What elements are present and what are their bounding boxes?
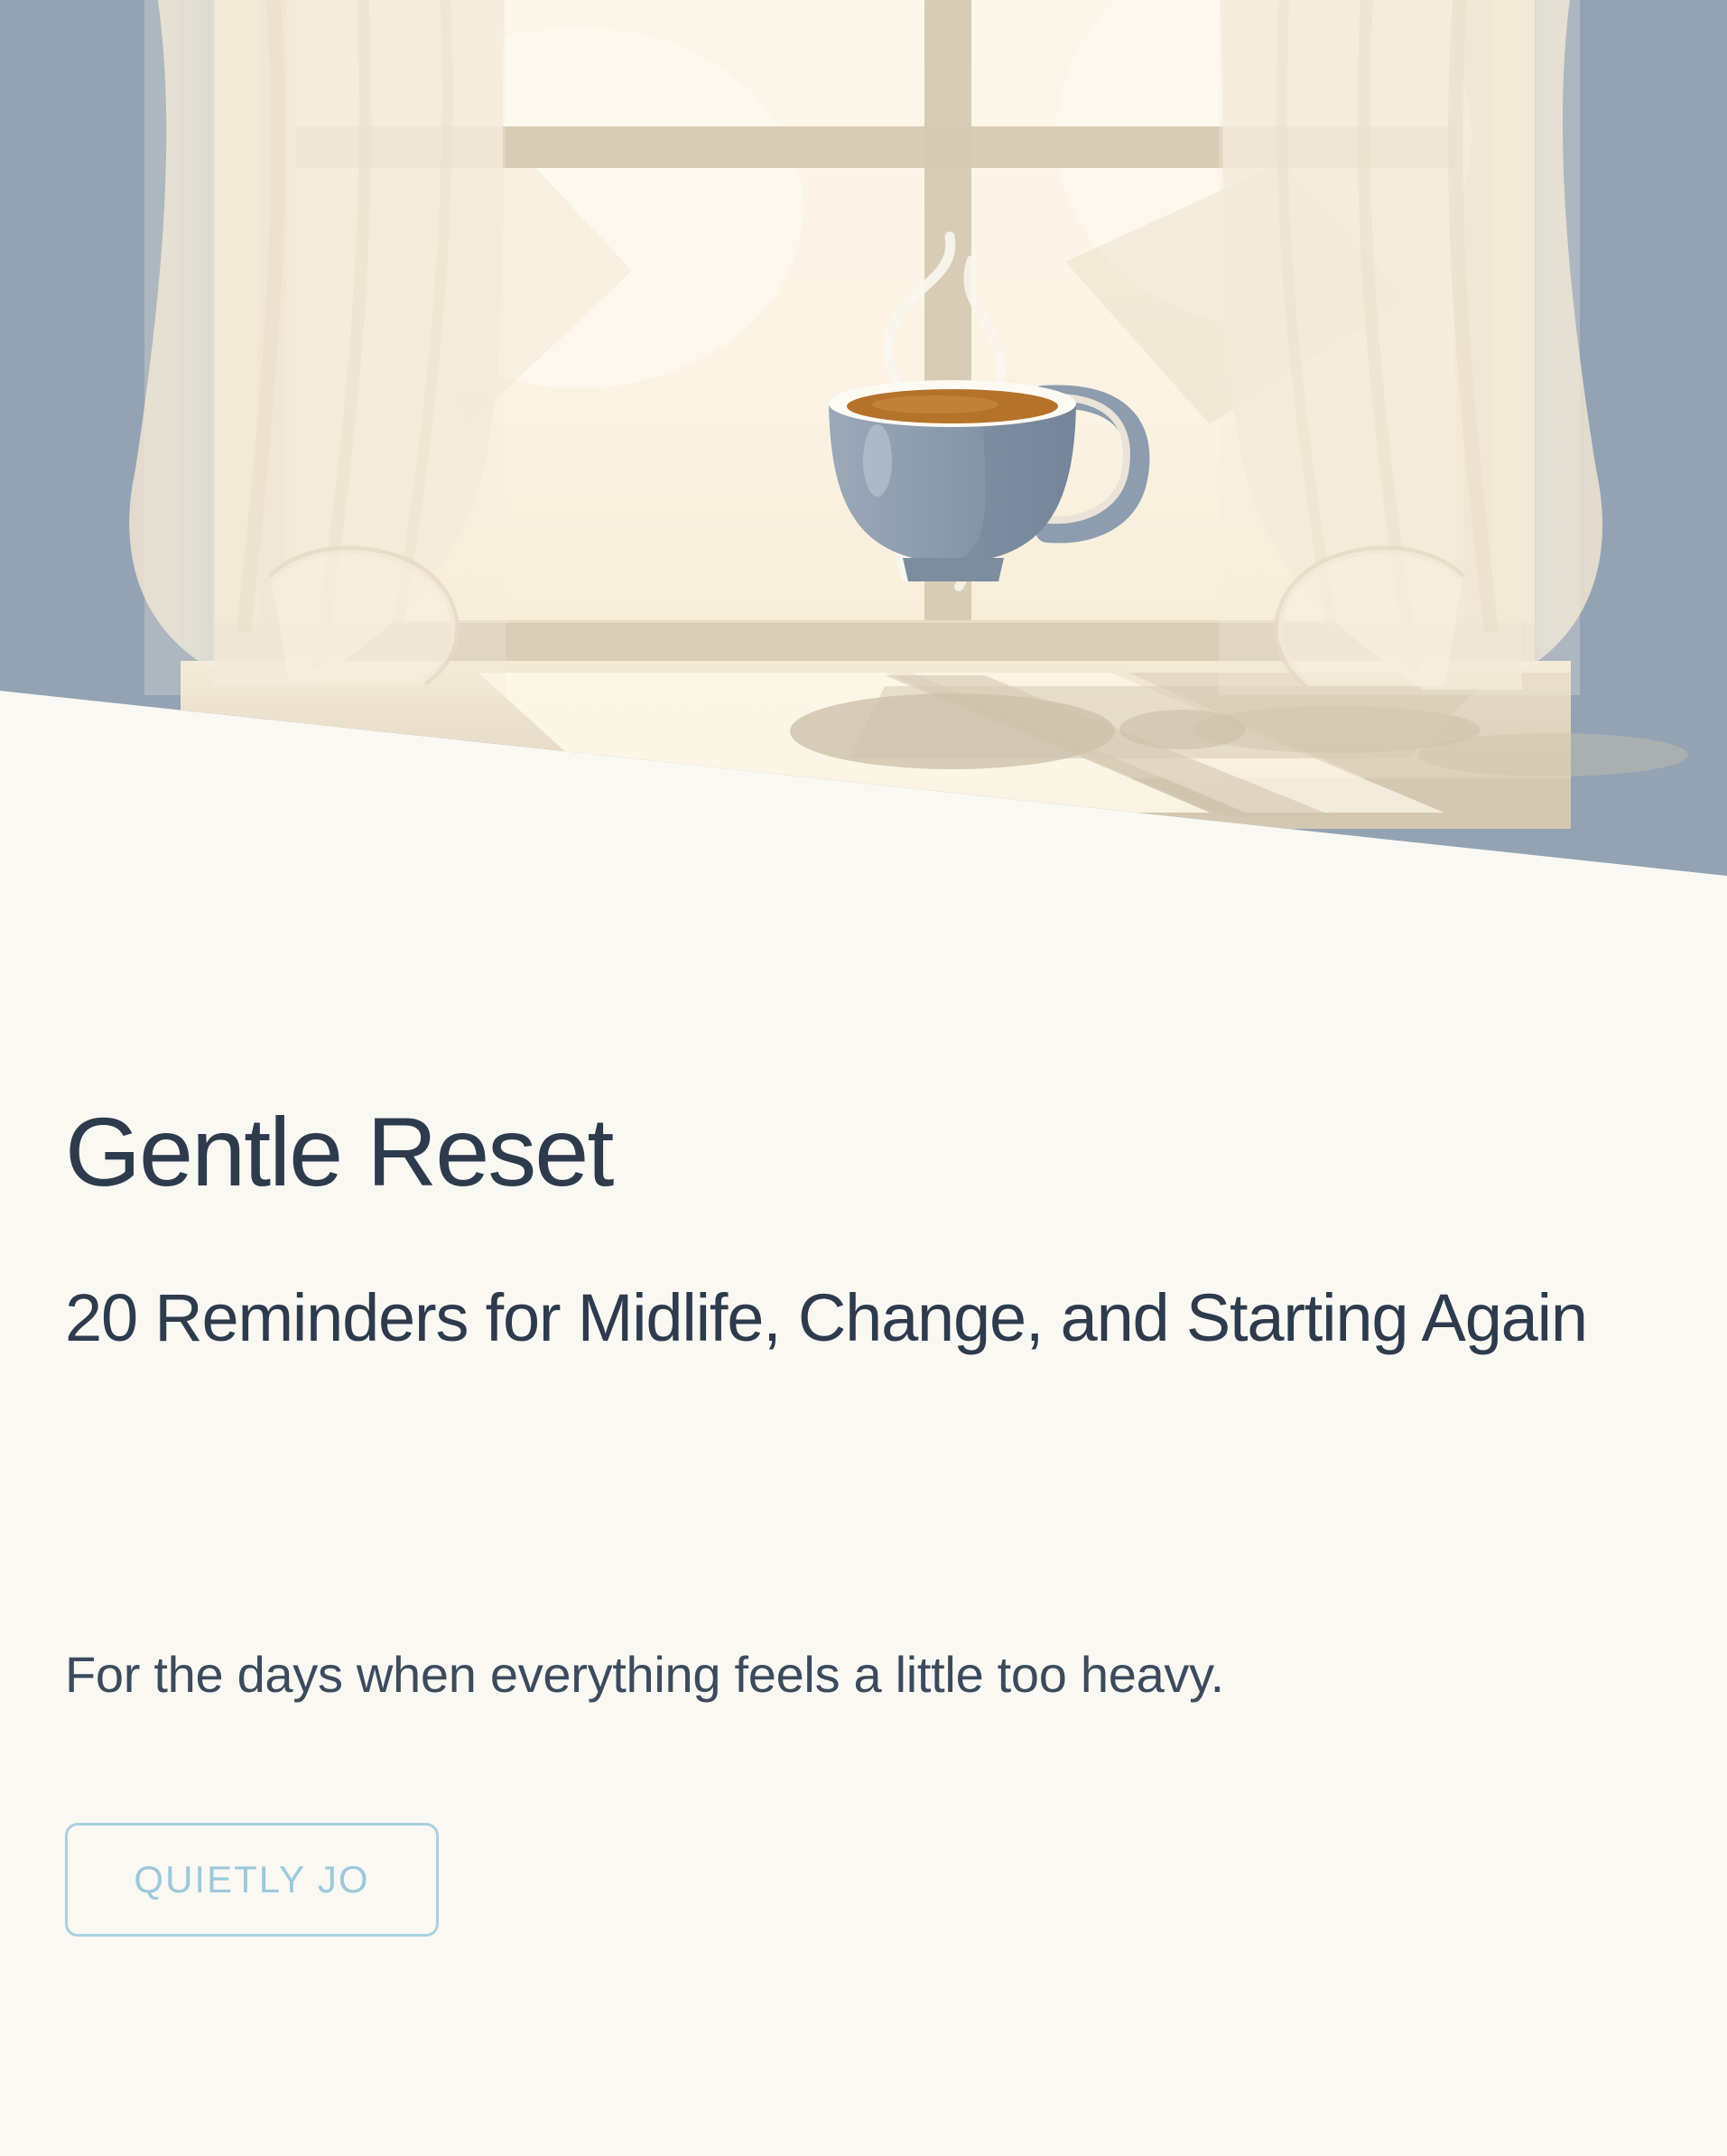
sheer-overlay-right — [1219, 0, 1580, 695]
cup-foot — [903, 558, 1004, 581]
page-title: Gentle Reset — [65, 1103, 612, 1201]
page-tagline: For the days when everything feels a lit… — [65, 1640, 1690, 1709]
coffee-window-illustration — [0, 0, 1727, 894]
cup-highlight — [863, 424, 892, 497]
gentle-reset-card: Gentle Reset 20 Reminders for Midlife, C… — [0, 0, 1727, 2156]
page-subtitle: 20 Reminders for Midlife, Change, and St… — [65, 1273, 1717, 1362]
cup-base-shadow — [790, 693, 1115, 769]
sill-object-shadow-2 — [1417, 733, 1688, 776]
coffee-surface-highlight — [872, 395, 998, 414]
hero-illustration — [0, 0, 1727, 894]
brand-badge[interactable]: QUIETLY JO — [65, 1823, 439, 1937]
sheer-overlay — [144, 0, 506, 695]
cup-handle-shadow — [1119, 710, 1246, 749]
